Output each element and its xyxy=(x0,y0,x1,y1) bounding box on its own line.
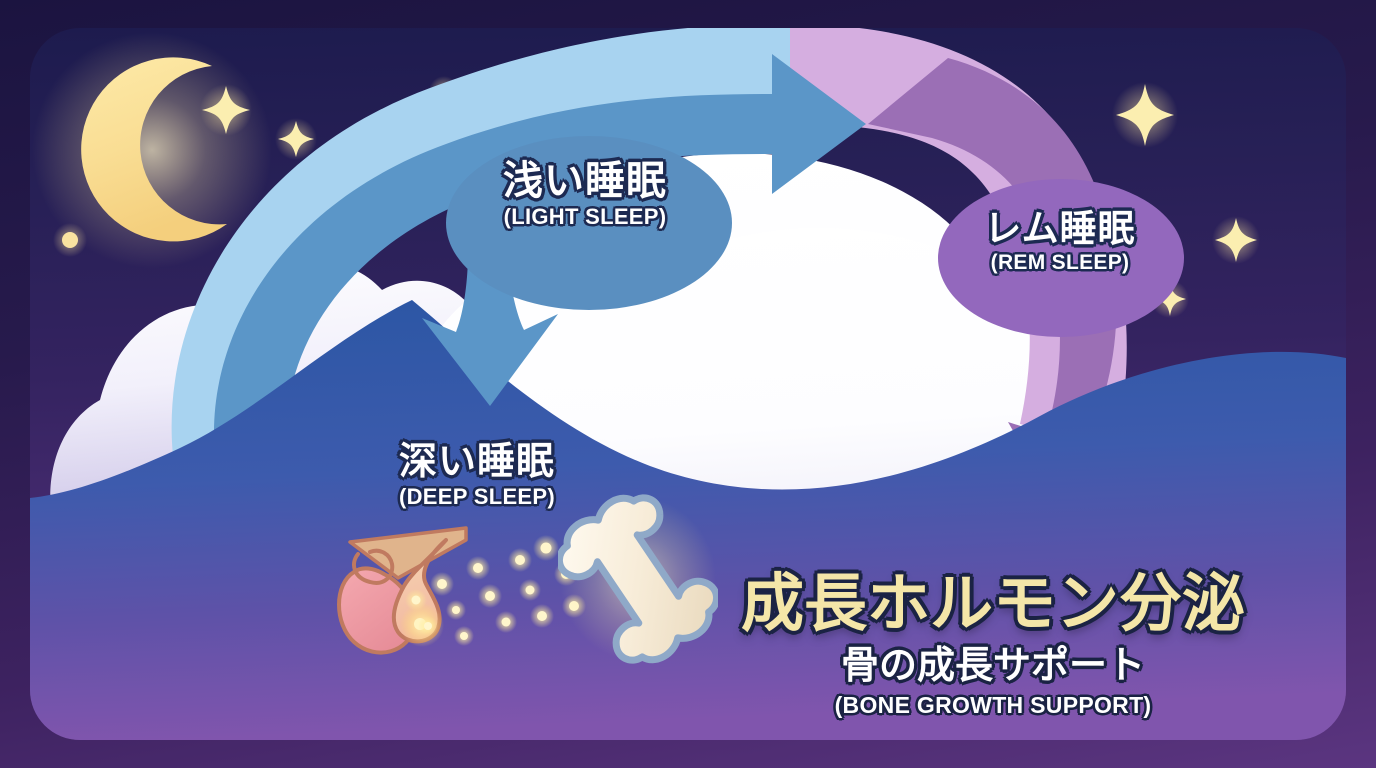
light-sleep-label: 浅い睡眠 (LIGHT SLEEP) xyxy=(490,161,680,228)
sleep-cycle-card: 浅い睡眠 (LIGHT SLEEP) レム睡眠 (REM SLEEP) 深い睡眠… xyxy=(30,28,1346,740)
light-sleep-en: (LIGHT SLEEP) xyxy=(490,206,680,228)
rem-sleep-en: (REM SLEEP) xyxy=(965,252,1155,273)
headline-en: (BONE GROWTH SUPPORT) xyxy=(698,692,1288,719)
headline-block: 成長ホルモン分泌 骨の成長サポート (BONE GROWTH SUPPORT) xyxy=(698,571,1288,719)
infographic-canvas: 浅い睡眠 (LIGHT SLEEP) レム睡眠 (REM SLEEP) 深い睡眠… xyxy=(0,0,1376,768)
rem-sleep-jp: レム睡眠 xyxy=(965,210,1155,248)
headline-sub: 骨の成長サポート xyxy=(698,647,1288,687)
light-sleep-jp: 浅い睡眠 xyxy=(490,161,680,202)
deep-sleep-jp: 深い睡眠 xyxy=(382,443,572,482)
rem-sleep-label: レム睡眠 (REM SLEEP) xyxy=(965,210,1155,273)
headline-main: 成長ホルモン分泌 xyxy=(698,571,1288,637)
deep-sleep-en: (DEEP SLEEP) xyxy=(382,486,572,508)
bone-icon xyxy=(558,494,718,664)
deep-sleep-label: 深い睡眠 (DEEP SLEEP) xyxy=(382,443,572,508)
